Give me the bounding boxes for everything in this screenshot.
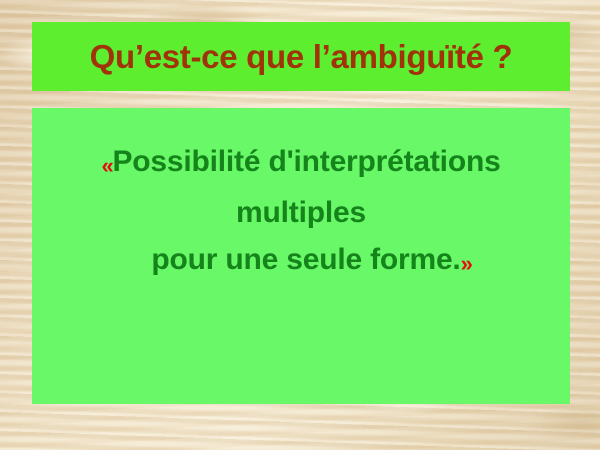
- title-band: Qu’est-ce que l’ambiguïté ?: [32, 22, 570, 91]
- quote-line-1-text: Possibilité d'interprétations: [112, 145, 500, 178]
- quote-line-2-text: multiples: [236, 196, 366, 229]
- body-band: «Possibilité d'interprétations multiples…: [32, 108, 570, 404]
- guillemet-close-icon: »: [461, 251, 473, 276]
- slide-canvas: Qu’est-ce que l’ambiguïté ? «Possibilité…: [0, 0, 600, 450]
- quote-line-1: «Possibilité d'interprétations: [32, 138, 570, 189]
- quote-block: «Possibilité d'interprétations multiples…: [32, 138, 570, 287]
- slide-title: Qu’est-ce que l’ambiguïté ?: [90, 40, 513, 73]
- quote-line-3: pour une seule forme.»: [32, 236, 570, 287]
- quote-line-3-text: pour une seule forme.: [151, 243, 460, 276]
- quote-line-2: multiples: [32, 189, 570, 236]
